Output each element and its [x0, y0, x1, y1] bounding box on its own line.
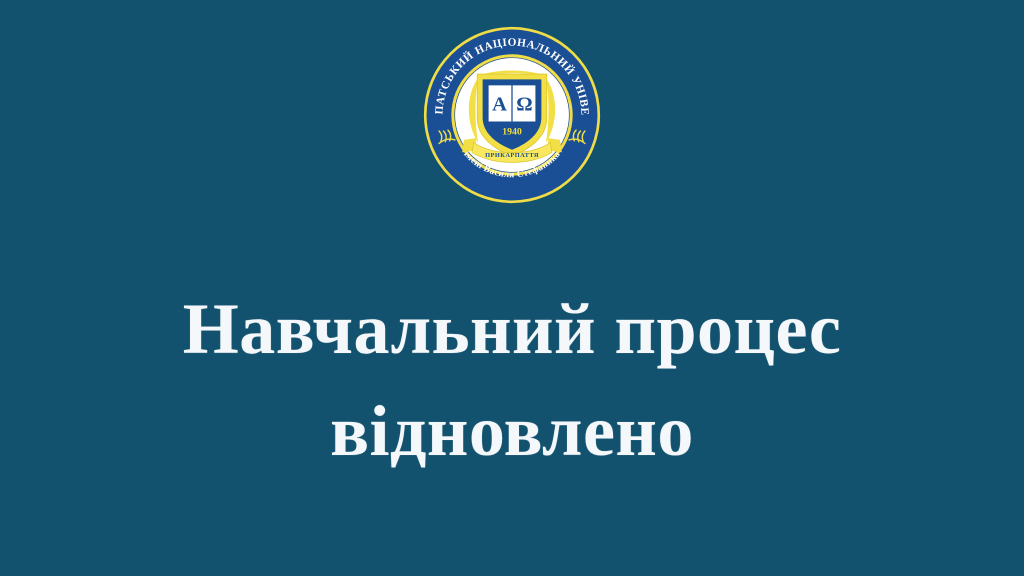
headline-line-2: відновлено	[0, 380, 1024, 482]
university-emblem: ПРИКАРПАТСЬКИЙ НАЦІОНАЛЬНИЙ УНІВЕРСИТЕТ …	[423, 26, 601, 204]
seal-ribbon-text: ПРИКАРПАТТЯ	[485, 152, 539, 159]
seal-alpha-letter: A	[492, 94, 507, 116]
headline-line-1: Навчальний процес	[0, 278, 1024, 380]
seal-omega-letter: Ω	[516, 94, 532, 116]
announcement-slide: ПРИКАРПАТСЬКИЙ НАЦІОНАЛЬНИЙ УНІВЕРСИТЕТ …	[0, 0, 1024, 576]
headline-block: Навчальний процес відновлено	[0, 278, 1024, 482]
seal-year-text: 1940	[502, 127, 522, 138]
university-seal-icon: ПРИКАРПАТСЬКИЙ НАЦІОНАЛЬНИЙ УНІВЕРСИТЕТ …	[423, 26, 601, 204]
